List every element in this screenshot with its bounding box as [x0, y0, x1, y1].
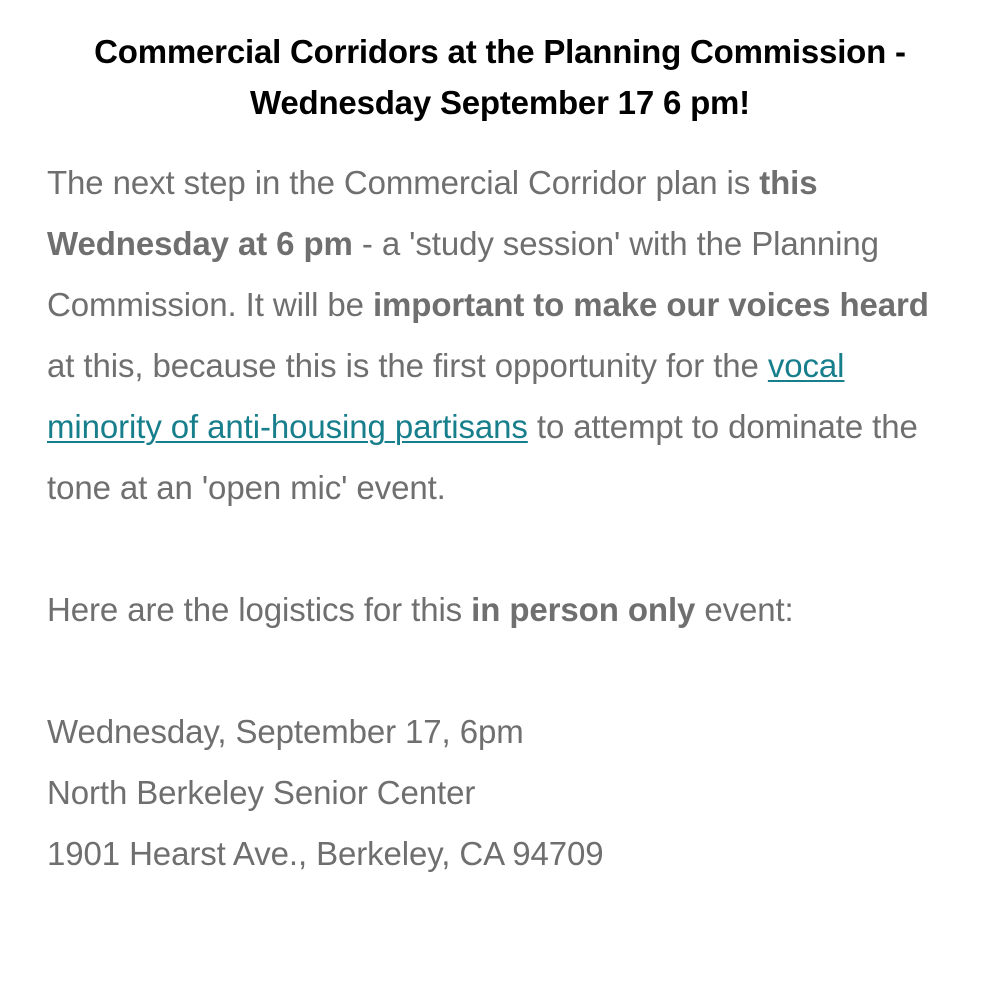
paragraph-logistics-text-2: event: [695, 591, 793, 628]
paragraph-logistics-text-1: Here are the logistics for this [47, 591, 471, 628]
page-title: Commercial Corridors at the Planning Com… [0, 0, 1000, 128]
event-details-block: Wednesday, September 17, 6pm North Berke… [47, 701, 953, 884]
paragraph-logistics-emphasis: in person only [471, 591, 695, 628]
event-address: 1901 Hearst Ave., Berkeley, CA 94709 [47, 823, 953, 884]
document-page: Commercial Corridors at the Planning Com… [0, 0, 1000, 991]
paragraph-logistics-lead: Here are the logistics for this in perso… [47, 579, 953, 640]
page-title-line-1: Commercial Corridors at the Planning [94, 33, 681, 70]
paragraph-intro-emphasis-2: important to make our voices heard [373, 286, 929, 323]
paragraph-intro-text-1: The next step in the Commercial Corridor… [47, 164, 759, 201]
paragraph-intro-text-3: at this, because this is the first oppor… [47, 347, 768, 384]
event-venue: North Berkeley Senior Center [47, 762, 953, 823]
paragraph-intro: The next step in the Commercial Corridor… [47, 152, 953, 518]
event-datetime: Wednesday, September 17, 6pm [47, 701, 953, 762]
body-content: The next step in the Commercial Corridor… [0, 152, 1000, 884]
